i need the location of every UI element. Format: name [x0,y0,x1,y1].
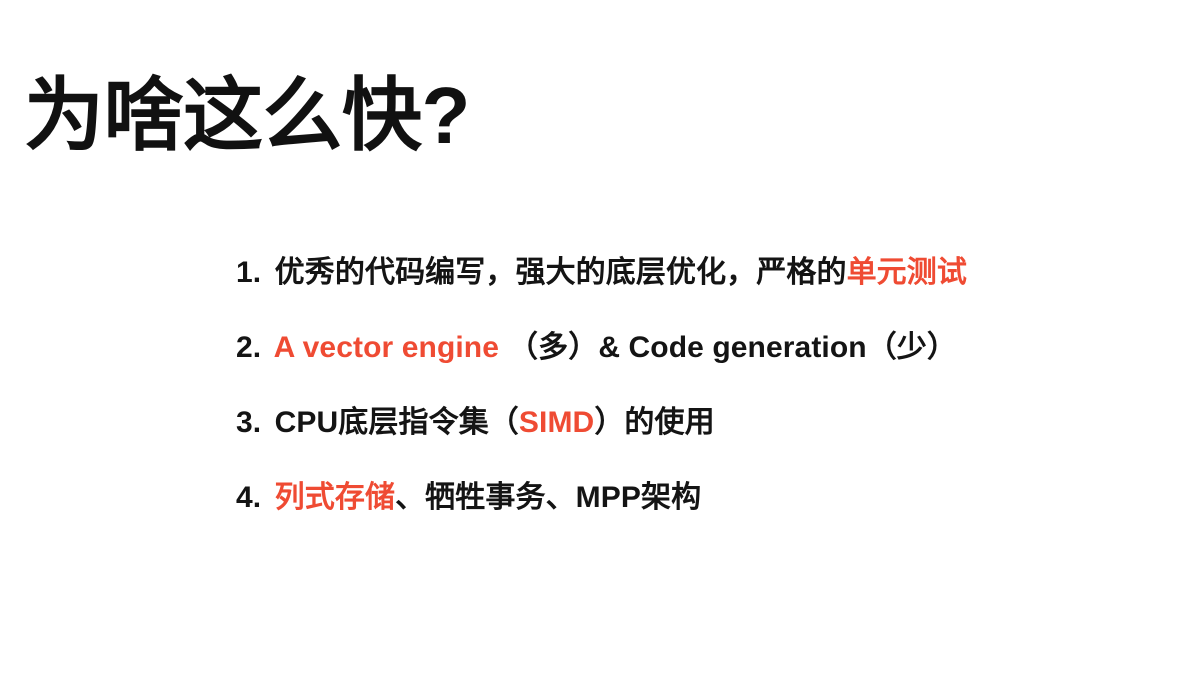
page-title: 为啥这么快? [24,76,470,156]
list-item-number: 2. [236,331,261,364]
list-item-text-plain: 优秀的代码编写，强大的底层优化，严格的 [275,256,847,289]
list-item-text-highlight: 单元测试 [847,256,967,289]
list-item-text-highlight: SIMD [519,406,594,439]
list-item-text-plain: CPU底层指令集（ [275,406,519,439]
list-item: 1. 优秀的代码编写，强大的底层优化，严格的单元测试 [236,253,1176,293]
list-item-text-plain: （多）& Code generation（少） [508,331,957,364]
list-item-number: 4. [236,481,261,514]
list-item-text-plain-tail: ）的使用 [594,406,714,439]
list-item-number: 3. [236,406,261,439]
list-item-text-plain: 、牺牲事务、MPP架构 [395,481,701,514]
list-item: 3. CPU底层指令集（SIMD）的使用 [236,403,1176,443]
list-item: 4. 列式存储、牺牲事务、MPP架构 [236,478,1176,518]
list-item-number: 1. [236,256,261,289]
bullet-list: 1. 优秀的代码编写，强大的底层优化，严格的单元测试 2. A vector e… [236,253,1176,518]
list-item: 2. A vector engine（多）& Code generation（少… [236,328,1176,368]
list-item-text-highlight: 列式存储 [275,481,395,514]
list-item-text-highlight: A vector engine [274,331,499,364]
slide-canvas: 为啥这么快? 1. 优秀的代码编写，强大的底层优化，严格的单元测试 2. A v… [0,0,1200,675]
